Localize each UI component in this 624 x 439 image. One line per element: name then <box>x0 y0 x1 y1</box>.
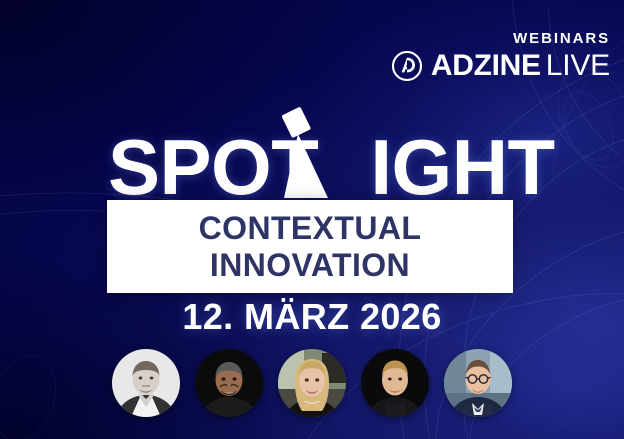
adzine-wordmark: ADZINE <box>431 51 541 81</box>
avatar <box>444 349 512 417</box>
subtitle-line-1: CONTEXTUAL <box>199 210 422 246</box>
event-date: 12. MÄRZ 2026 <box>0 299 624 335</box>
avatar <box>112 349 180 417</box>
adzine-live-spotlight-webinar-banner: WEBINARS ADZINE LIVE SPOTIGHT <box>0 0 624 439</box>
headline-spotlight: SPOTIGHT <box>0 106 624 202</box>
avatar <box>361 349 429 417</box>
headline-part-after: IGHT <box>370 123 554 211</box>
adzine-live-wordmark: ADZINE LIVE <box>431 51 610 81</box>
speaker-avatars-row <box>0 349 624 417</box>
webinars-label: WEBINARS <box>513 31 610 46</box>
avatar <box>278 349 346 417</box>
adzine-circle-ad-monogram-icon <box>392 51 422 81</box>
live-wordmark: LIVE <box>546 51 610 81</box>
adzine-live-logo: ADZINE LIVE <box>392 51 610 81</box>
spotlight-lamp-beam-icon <box>268 106 342 202</box>
subtitle-line-2: INNOVATION <box>210 247 410 283</box>
avatar <box>195 349 263 417</box>
brand-lockup: WEBINARS ADZINE LIVE <box>392 31 610 81</box>
subtitle-panel: CONTEXTUAL INNOVATION <box>107 200 513 293</box>
